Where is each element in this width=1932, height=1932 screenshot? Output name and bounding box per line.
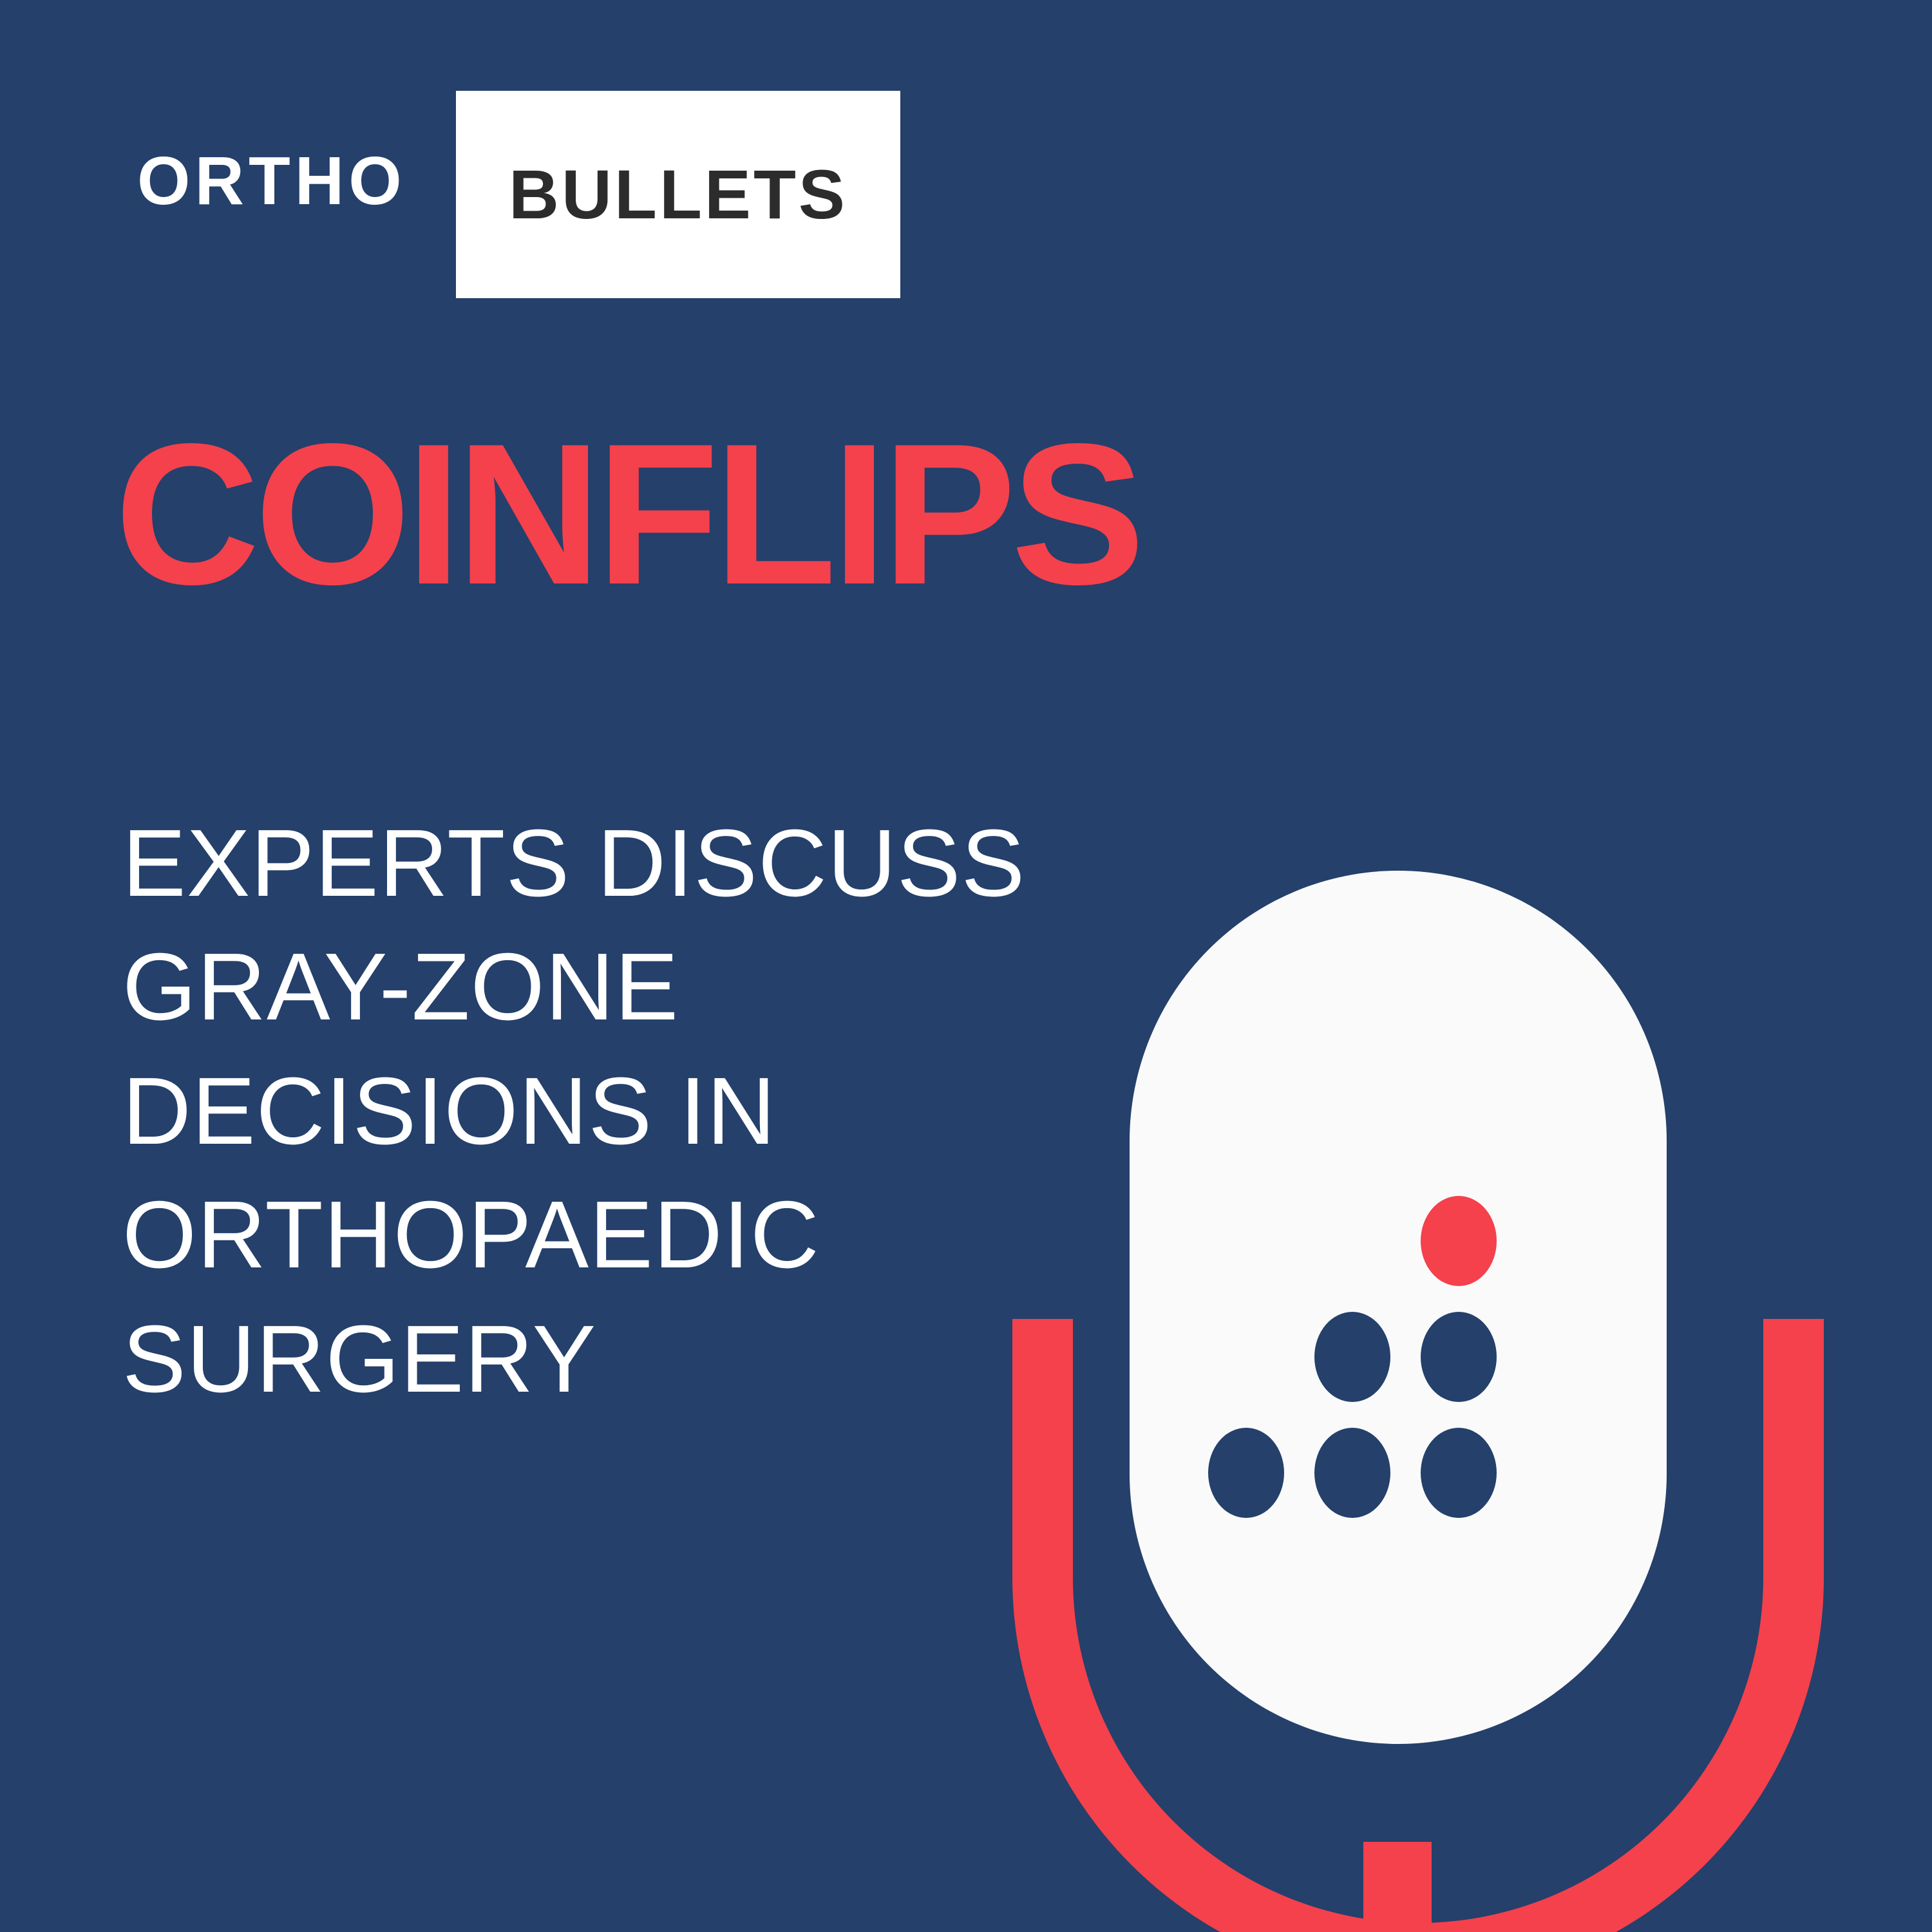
microphone-dot-navy-1: [1314, 1312, 1390, 1402]
microphone-capsule: [1130, 871, 1667, 1744]
logo-word-ortho: ORTHO: [137, 147, 406, 215]
microphone-dot-grid: [1130, 871, 1667, 1744]
logo-bullets-box: BULLETS: [456, 91, 900, 298]
microphone-dot-navy-3: [1208, 1428, 1284, 1518]
podcast-cover-art: ORTHO BULLETS COINFLIPS EXPERTS DISCUSS …: [0, 0, 1932, 1932]
microphone-icon: [966, 837, 1868, 1932]
logo-word-bullets: BULLETS: [509, 160, 848, 229]
microphone-stem-joint: [1363, 1842, 1432, 1880]
show-title: COINFLIPS: [115, 412, 1660, 617]
microphone-dot-navy-2: [1421, 1312, 1497, 1402]
microphone-dot-accent: [1421, 1196, 1497, 1286]
microphone-dot-navy-5: [1421, 1428, 1497, 1518]
microphone-dot-navy-4: [1314, 1428, 1390, 1518]
orthobullets-logo[interactable]: ORTHO BULLETS: [0, 0, 966, 361]
